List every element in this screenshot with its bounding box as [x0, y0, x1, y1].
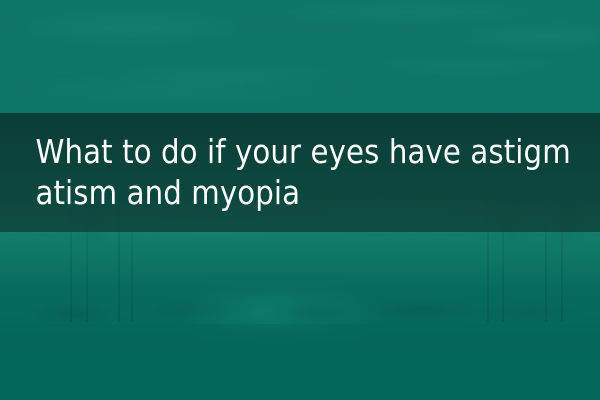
page-title: What to do if your eyes have astigmatism… — [0, 132, 591, 213]
title-banner: What to do if your eyes have astigmatism… — [0, 113, 600, 232]
article-header-image: What to do if your eyes have astigmatism… — [0, 0, 600, 400]
